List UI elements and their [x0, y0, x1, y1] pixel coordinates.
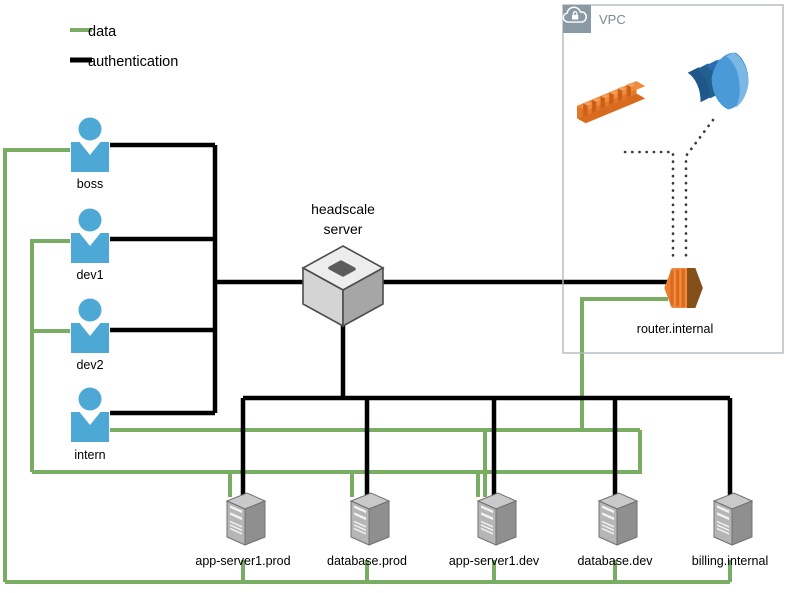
server-node-database-dev[interactable]: database.dev	[577, 493, 653, 568]
server-label-database-prod: database.prod	[327, 554, 407, 568]
router-internal-label: router.internal	[637, 322, 713, 336]
user-node-boss[interactable]: boss	[71, 118, 109, 192]
server-label-app-server1-prod: app-server1.prod	[195, 554, 290, 568]
dotted-link-database-to-router	[686, 120, 713, 258]
user-label-dev2: dev2	[76, 358, 103, 372]
server-label-database-dev: database.dev	[577, 554, 653, 568]
user-label-dev1: dev1	[76, 268, 103, 282]
server-label-billing-internal: billing.internal	[692, 554, 768, 568]
vpc-internal-links	[625, 120, 713, 258]
server-node-billing-internal[interactable]: billing.internal	[692, 493, 768, 568]
vpc-label: VPC	[599, 12, 626, 27]
data-link-router-to-dbdev	[615, 430, 640, 497]
dotted-link-compute-to-router	[625, 152, 673, 258]
router-internal[interactable]: router.internal	[637, 268, 713, 336]
vpc-compute-orange[interactable]	[577, 81, 645, 123]
headscale-label-line1: headscale	[311, 201, 375, 217]
server-node-app-server1-prod[interactable]: app-server1.prod	[195, 493, 290, 568]
server-nodes: app-server1.prod database.prod app-serve…	[195, 493, 768, 568]
headscale-server-node[interactable]: headscale server	[303, 201, 383, 326]
data-link-boss	[5, 150, 70, 582]
legend-authentication-label: authentication	[88, 54, 178, 70]
user-label-boss: boss	[77, 177, 103, 191]
data-link-router	[582, 299, 668, 430]
vpc-database-blue[interactable]	[684, 53, 748, 112]
headscale-cube-icon	[303, 246, 383, 326]
server-node-database-prod[interactable]: database.prod	[327, 493, 407, 568]
user-node-dev1[interactable]: dev1	[71, 209, 109, 283]
user-nodes: boss dev1 dev2 intern	[71, 118, 109, 463]
diagram-canvas: data authentication VPC	[0, 0, 792, 593]
user-node-intern[interactable]: intern	[71, 388, 109, 463]
network-topology-diagram: data authentication VPC	[0, 0, 792, 593]
user-label-intern: intern	[74, 448, 105, 462]
data-link-dev1	[32, 241, 70, 472]
server-node-app-server1-dev[interactable]: app-server1.dev	[449, 493, 540, 568]
legend: data authentication	[70, 24, 178, 70]
headscale-label-line2: server	[324, 221, 363, 237]
auth-link-group	[110, 145, 730, 497]
legend-data-label: data	[88, 24, 117, 40]
server-label-app-server1-dev: app-server1.dev	[449, 554, 540, 568]
user-node-dev2[interactable]: dev2	[71, 299, 109, 373]
